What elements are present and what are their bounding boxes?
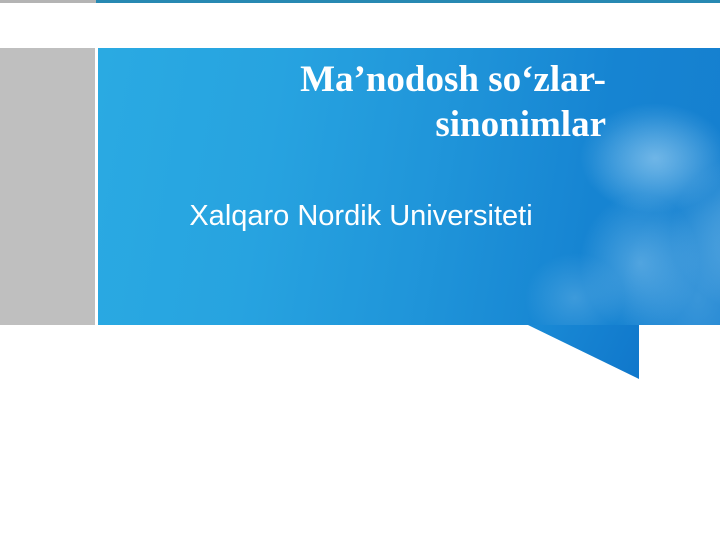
slide-subtitle: Xalqaro Nordik Universiteti [116, 197, 606, 235]
top-rule-gray-segment [0, 0, 96, 3]
slide-title: Ma’nodosh so‘zlar- sinonimlar [150, 57, 606, 147]
top-rule-teal-segment [96, 0, 720, 3]
cloud-texture-icon [525, 253, 625, 325]
left-gray-block [0, 48, 95, 325]
presentation-slide: Ma’nodosh so‘zlar- sinonimlar Xalqaro No… [0, 0, 720, 540]
